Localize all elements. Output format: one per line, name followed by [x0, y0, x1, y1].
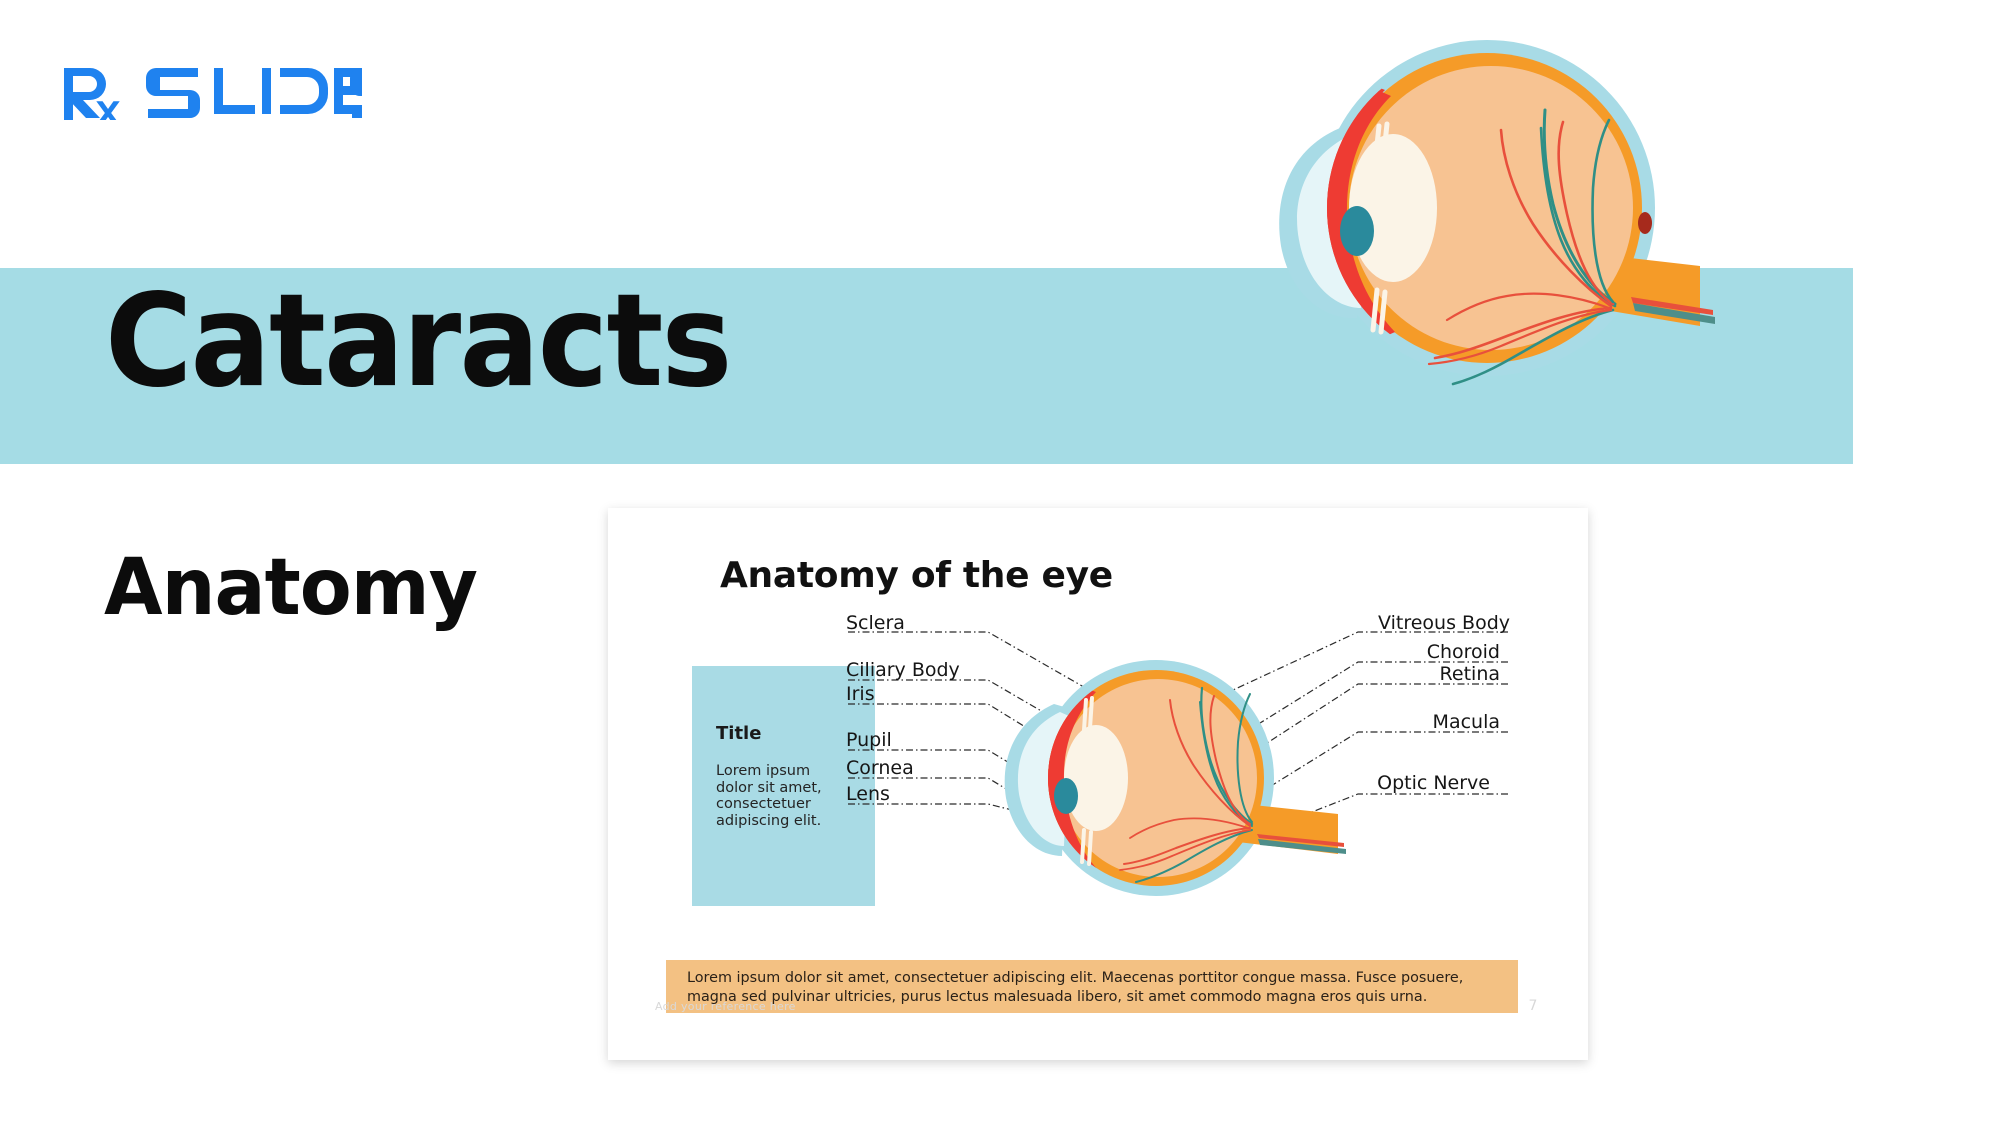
reference-placeholder[interactable]: Add your reference here — [655, 1000, 796, 1013]
diagram-label-optic-nerve: Optic Nerve — [1377, 772, 1490, 794]
sidebar-box-title: Title — [716, 723, 761, 744]
sidebar-box-body: Lorem ipsum dolor sit amet, consectetuer… — [716, 763, 846, 829]
eye-anatomy-diagram: Sclera Ciliary Body Iris Pupil Cornea Le… — [838, 618, 1518, 928]
page-number: 7 — [1518, 998, 1548, 1014]
section-heading: Anatomy — [104, 543, 477, 633]
diagram-label-retina: Retina — [1440, 663, 1500, 685]
diagram-label-cornea: Cornea — [846, 757, 914, 779]
note-text: Lorem ipsum dolor sit amet, consectetuer… — [687, 969, 1487, 1006]
diagram-label-macula: Macula — [1433, 711, 1500, 733]
page-title: Cataracts — [105, 278, 731, 406]
slide-canvas: Cataracts — [0, 0, 2001, 1125]
diagram-label-iris: Iris — [846, 683, 875, 705]
eye-cross-section-illustration — [1195, 18, 1755, 408]
rx-slides-logo[interactable] — [62, 62, 362, 117]
slide-preview-card[interactable]: Anatomy of the eye Title Lorem ipsum dol… — [608, 508, 1588, 1060]
diagram-label-choroid: Choroid — [1427, 641, 1500, 663]
slide-title: Anatomy of the eye — [720, 555, 1113, 596]
diagram-label-vitreous-body: Vitreous Body — [1378, 612, 1510, 634]
diagram-label-ciliary-body: Ciliary Body — [846, 659, 960, 681]
diagram-label-sclera: Sclera — [846, 612, 905, 634]
diagram-label-lens: Lens — [846, 783, 890, 805]
diagram-label-pupil: Pupil — [846, 729, 892, 751]
